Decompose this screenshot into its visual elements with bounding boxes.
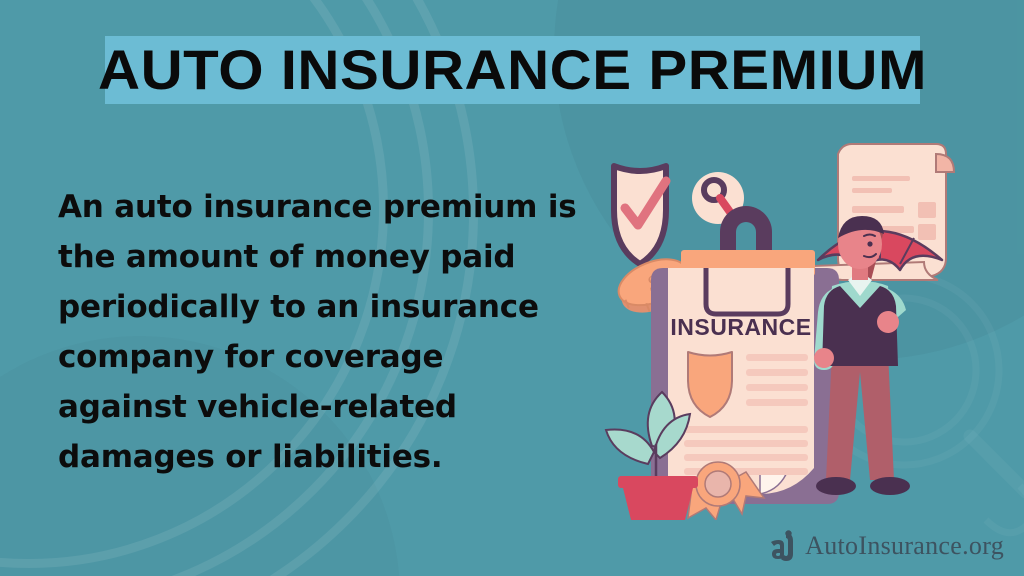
clipboard-icon: INSURANCE: [651, 206, 839, 520]
brand-name: AutoInsurance.org: [805, 533, 1004, 559]
shield-check-icon: [614, 166, 666, 264]
clipboard-label: INSURANCE: [670, 314, 811, 340]
ai-monogram-icon: [770, 530, 796, 562]
brand-logo[interactable]: AutoInsurance.org: [770, 530, 1004, 562]
infographic-canvas: AUTO INSURANCE PREMIUM An auto insurance…: [0, 0, 1024, 576]
insurance-illustration: S: [596, 140, 1016, 520]
page-title: AUTO INSURANCE PREMIUM: [89, 36, 937, 104]
definition-paragraph: An auto insurance premium is the amount …: [58, 182, 578, 482]
